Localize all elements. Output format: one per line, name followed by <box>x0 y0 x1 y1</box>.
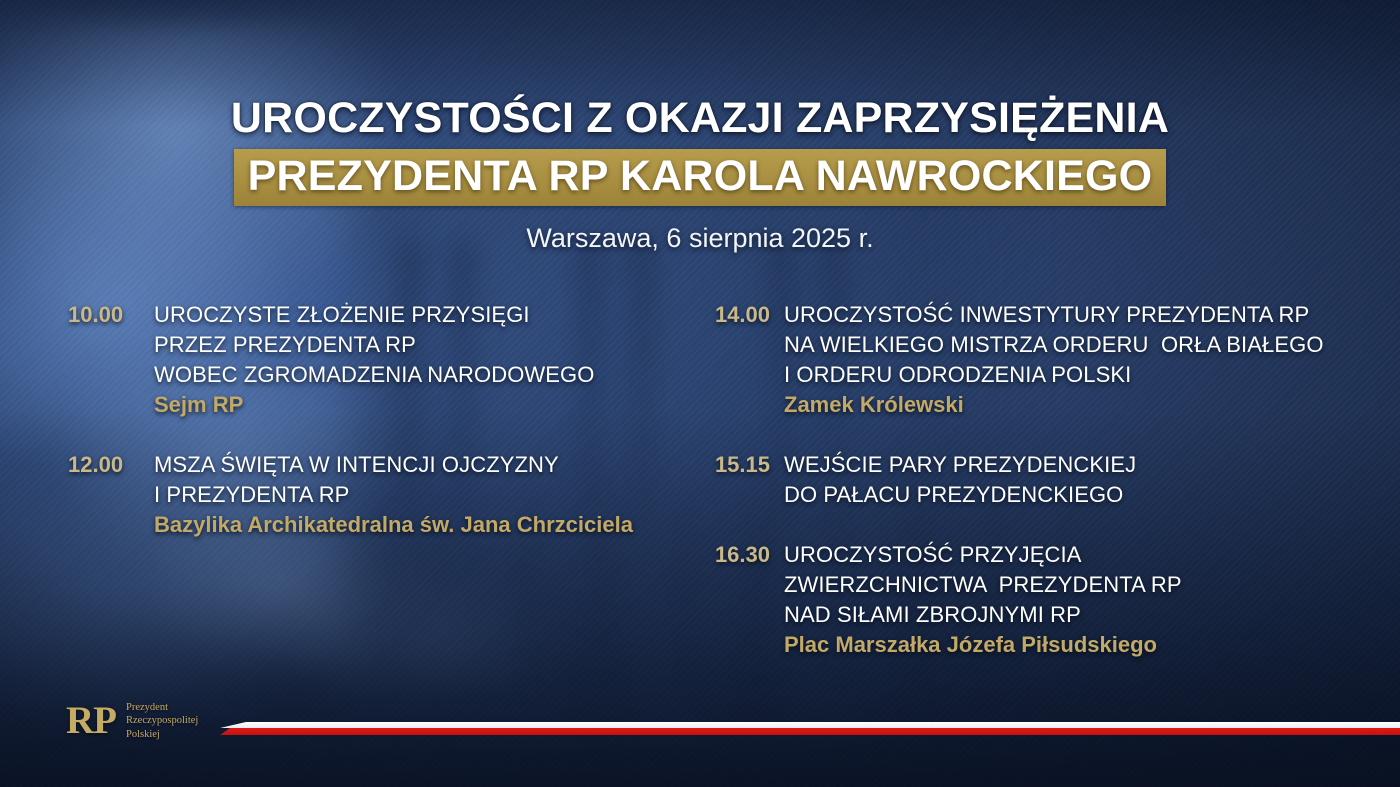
flag-stripe-red <box>220 728 1400 735</box>
entry-line: UROCZYSTOŚĆ INWESTYTURY PREZYDENTA RP <box>784 300 1324 330</box>
flag-stripe-white <box>220 722 1400 728</box>
entry-body: MSZA ŚWIĘTA W INTENCJI OJCZYZNY I PREZYD… <box>154 450 633 540</box>
schedule-entry: 15.15 WEJŚCIE PARY PREZYDENCKIEJ DO PAŁA… <box>700 450 1400 510</box>
polish-flag-stripe <box>220 722 1400 735</box>
entry-time: 16.30 <box>700 540 770 660</box>
entry-line: MSZA ŚWIĘTA W INTENCJI OJCZYZNY <box>154 450 633 480</box>
rp-monogram-icon: RP <box>66 701 116 740</box>
logo-caption-line-2: Rzeczypospolitej <box>126 714 198 727</box>
entry-body: UROCZYSTOŚĆ PRZYJĘCIA ZWIERZCHNICTWA PRE… <box>784 540 1182 660</box>
logo-caption-line-3: Polskiej <box>126 728 198 741</box>
entry-line: WOBEC ZGROMADZENIA NARODOWEGO <box>154 360 594 390</box>
slide-footer: RP Prezydent Rzeczypospolitej Polskiej <box>0 677 1400 787</box>
schedule-column-right: 14.00 UROCZYSTOŚĆ INWESTYTURY PREZYDENTA… <box>700 300 1400 660</box>
entry-venue: Sejm RP <box>154 390 594 420</box>
entry-line: DO PAŁACU PREZYDENCKIEGO <box>784 480 1136 510</box>
presidential-logo: RP Prezydent Rzeczypospolitej Polskiej <box>66 701 198 741</box>
entry-line: WEJŚCIE PARY PREZYDENCKIEJ <box>784 450 1136 480</box>
logo-caption: Prezydent Rzeczypospolitej Polskiej <box>126 701 198 741</box>
entry-line: UROCZYSTE ZŁOŻENIE PRZYSIĘGI <box>154 300 594 330</box>
entry-time: 10.00 <box>68 300 140 420</box>
entry-venue: Bazylika Archikatedralna św. Jana Chrzci… <box>154 510 633 540</box>
schedule-entry: 16.30 UROCZYSTOŚĆ PRZYJĘCIA ZWIERZCHNICT… <box>700 540 1400 660</box>
page-title-line-2-highlight: PREZYDENTA RP KAROLA NAWROCKIEGO <box>234 149 1167 207</box>
entry-time: 12.00 <box>68 450 140 540</box>
entry-body: UROCZYSTOŚĆ INWESTYTURY PREZYDENTA RP NA… <box>784 300 1324 420</box>
logo-caption-line-1: Prezydent <box>126 701 198 714</box>
page-title-line-1: UROCZYSTOŚCI Z OKAZJI ZAPRZYSIĘŻENIA <box>0 96 1400 142</box>
entry-time: 15.15 <box>700 450 770 510</box>
entry-line: NAD SIŁAMI ZBROJNYMI RP <box>784 600 1182 630</box>
entry-line: PRZEZ PREZYDENTA RP <box>154 330 594 360</box>
entry-line: ZWIERZCHNICTWA PREZYDENTA RP <box>784 570 1182 600</box>
page-title-line-2-wrapper: PREZYDENTA RP KAROLA NAWROCKIEGO <box>0 149 1400 207</box>
schedule-column-left: 10.00 UROCZYSTE ZŁOŻENIE PRZYSIĘGI PRZEZ… <box>0 300 700 660</box>
entry-venue: Zamek Królewski <box>784 390 1324 420</box>
presentation-slide: UROCZYSTOŚCI Z OKAZJI ZAPRZYSIĘŻENIA PRE… <box>0 0 1400 787</box>
schedule: 10.00 UROCZYSTE ZŁOŻENIE PRZYSIĘGI PRZEZ… <box>0 300 1400 660</box>
schedule-entry: 12.00 MSZA ŚWIĘTA W INTENCJI OJCZYZNY I … <box>68 450 700 540</box>
entry-time: 14.00 <box>700 300 770 420</box>
entry-body: WEJŚCIE PARY PREZYDENCKIEJ DO PAŁACU PRE… <box>784 450 1136 510</box>
slide-header: UROCZYSTOŚCI Z OKAZJI ZAPRZYSIĘŻENIA PRE… <box>0 96 1400 254</box>
entry-body: UROCZYSTE ZŁOŻENIE PRZYSIĘGI PRZEZ PREZY… <box>154 300 594 420</box>
entry-line: NA WIELKIEGO MISTRZA ORDERU ORŁA BIAŁEGO <box>784 330 1324 360</box>
entry-line: I ORDERU ODRODZENIA POLSKI <box>784 360 1324 390</box>
entry-venue: Plac Marszałka Józefa Piłsudskiego <box>784 630 1182 660</box>
schedule-entry: 14.00 UROCZYSTOŚĆ INWESTYTURY PREZYDENTA… <box>700 300 1400 420</box>
entry-line: UROCZYSTOŚĆ PRZYJĘCIA <box>784 540 1182 570</box>
page-subtitle: Warszawa, 6 sierpnia 2025 r. <box>0 223 1400 254</box>
schedule-entry: 10.00 UROCZYSTE ZŁOŻENIE PRZYSIĘGI PRZEZ… <box>68 300 700 420</box>
entry-line: I PREZYDENTA RP <box>154 480 633 510</box>
